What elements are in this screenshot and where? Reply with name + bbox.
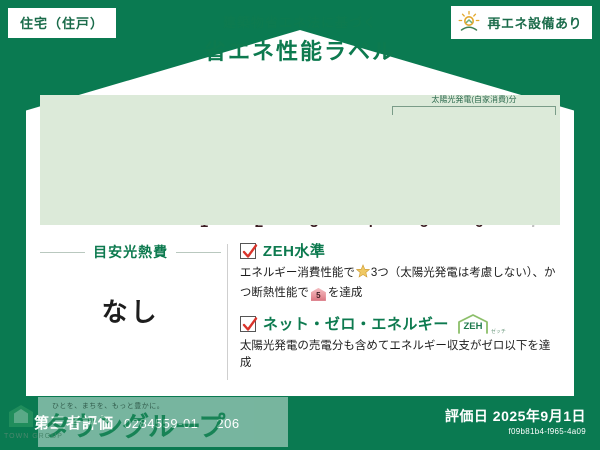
inline-star-icon	[356, 264, 370, 285]
cost-rule-left	[40, 252, 85, 253]
footer-left-group: 第三者評価 0284559-01 206	[34, 412, 240, 433]
utility-cost-heading: 目安光熱費	[40, 242, 221, 262]
evaluation-date-value: 2025年9月1日	[493, 408, 586, 424]
certification-block-1: ZEH水準エネルギー消費性能で3つ（太陽光発電は考慮しない）、かつ断熱性能で5を…	[240, 240, 560, 303]
svg-text:ZEH: ZEH	[463, 321, 482, 332]
solar-annotation-label: 太陽光発電(自家消費)分	[392, 94, 556, 105]
certification-description: エネルギー消費性能で3つ（太陽光発電は考慮しない）、かつ断熱性能で5を達成	[240, 264, 560, 303]
utility-cost-panel: 目安光熱費 なし	[40, 240, 221, 390]
vertical-divider	[227, 244, 228, 380]
renewable-badge-label: 再エネ設備あり	[487, 13, 582, 32]
evaluation-date: 評価日 2025年9月1日	[445, 406, 586, 426]
certification-description: 太陽光発電の売電分も含めてエネルギー収支がゼロ以下を達成	[240, 338, 560, 374]
certification-title-row: ZEH水準	[240, 240, 560, 261]
utility-cost-heading-text: 目安光熱費	[93, 242, 168, 262]
evaluation-date-label: 評価日	[445, 408, 489, 424]
certification-title: ネット・ゼロ・エネルギー	[263, 313, 449, 334]
label-footer: 第三者評価 0284559-01 206 評価日 2025年9月1日 f09b8…	[0, 398, 600, 450]
solar-contribution-annotation: 太陽光発電(自家消費)分	[392, 94, 556, 120]
energy-label-root: 住宅（住戸） 再エネ設備あり 建築物省エネ法に基づく 省エネ性能ラベル	[0, 0, 600, 450]
solar-bracket	[392, 106, 556, 115]
certification-checks: ZEH水準エネルギー消費性能で3つ（太陽光発電は考慮しない）、かつ断熱性能で5を…	[238, 240, 560, 390]
certification-title: ZEH水準	[263, 240, 326, 261]
check-icon[interactable]	[240, 316, 256, 332]
zeh-logo-sub: ゼッチ	[491, 328, 506, 335]
house-type-chip: 住宅（住戸）	[8, 8, 116, 38]
certification-title-row: ネット・ゼロ・エネルギーZEHゼッチ	[240, 313, 560, 335]
evaluation-hash: f09b81b4-f965-4a09	[445, 427, 586, 436]
inline-grade-badge: 5	[311, 288, 326, 301]
zeh-logo: ZEHゼッチ	[456, 313, 506, 335]
third-party-evaluation-label: 第三者評価	[34, 412, 114, 433]
label-bottom-area: 目安光熱費 なし ZEH水準エネルギー消費性能で3つ（太陽光発電は考慮しない）、…	[40, 240, 560, 390]
sun-icon	[457, 10, 481, 34]
zeh-house-icon: ZEH	[456, 313, 490, 335]
footer-id: 0284559-01	[124, 416, 198, 431]
cost-rule-right	[176, 252, 221, 253]
utility-cost-value: なし	[40, 292, 221, 329]
certification-block-2: ネット・ゼロ・エネルギーZEHゼッチ太陽光発電の売電分も含めてエネルギー収支がゼ…	[240, 313, 560, 374]
footer-right-group: 評価日 2025年9月1日 f09b81b4-f965-4a09	[445, 406, 586, 436]
footer-number: 206	[216, 416, 239, 431]
renewable-equipment-badge: 再エネ設備あり	[451, 6, 592, 39]
check-icon[interactable]	[240, 243, 256, 259]
